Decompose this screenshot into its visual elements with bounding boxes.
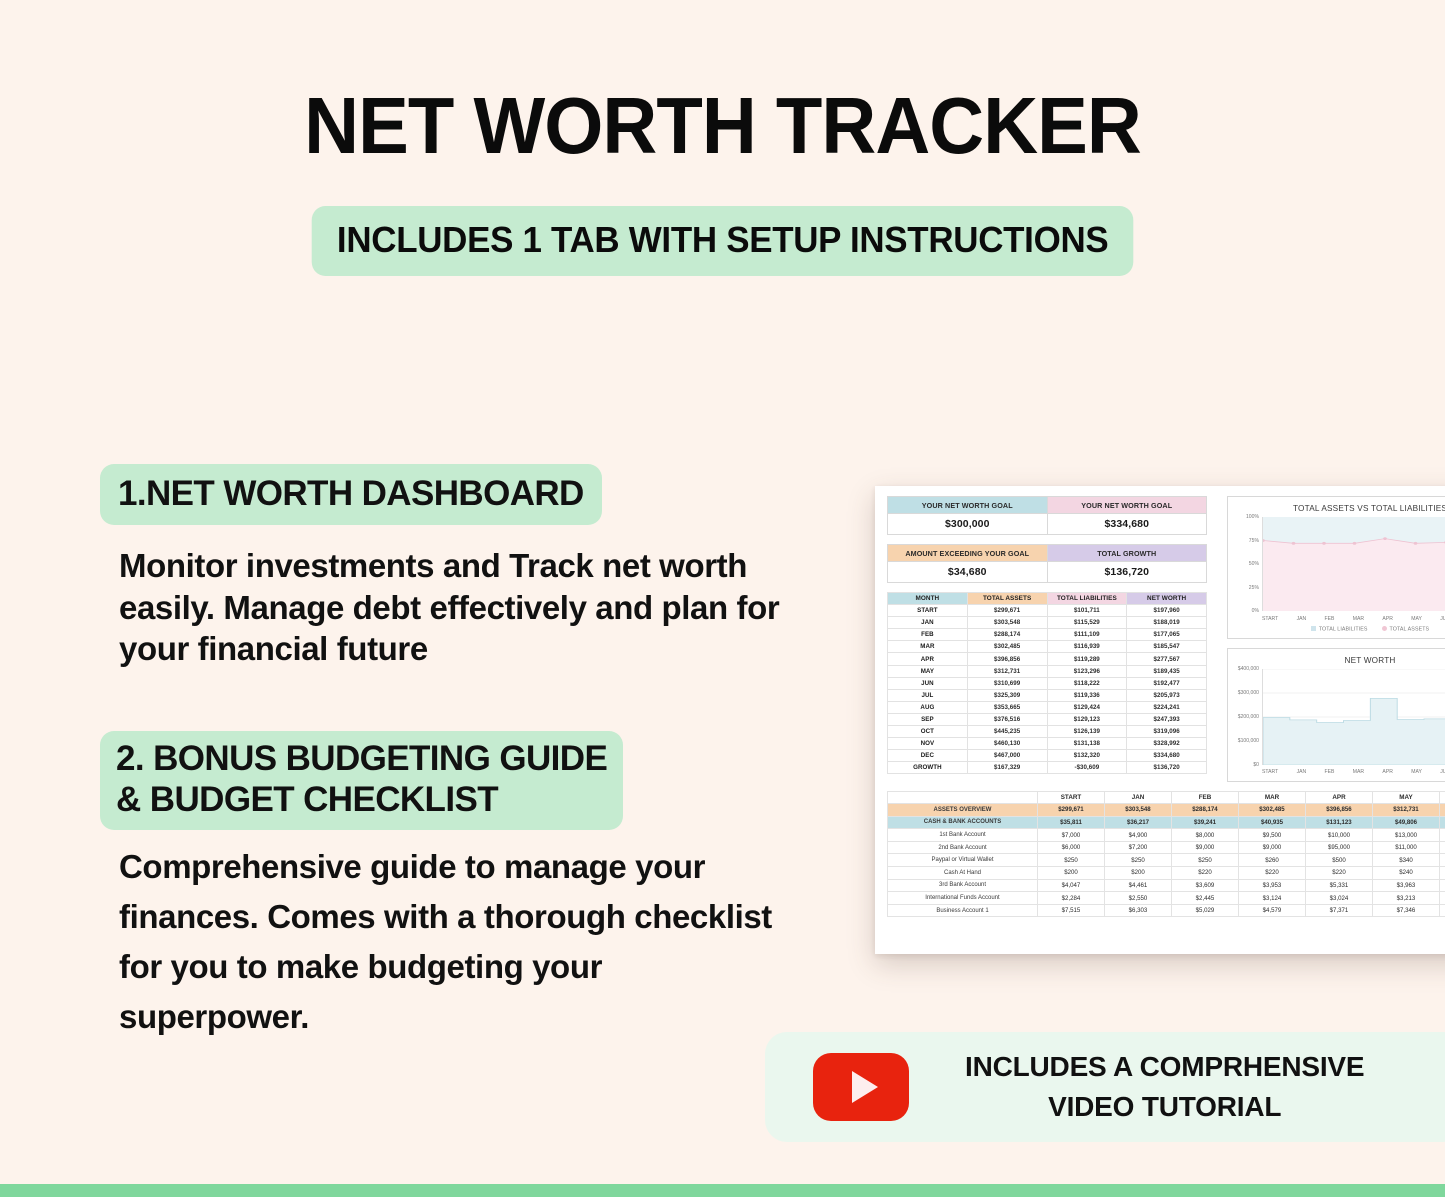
assets-cell: $5,331 xyxy=(1306,879,1373,892)
assets-header-5: APR xyxy=(1306,791,1373,804)
assets-cell: $7,200 xyxy=(1105,841,1172,854)
assets-cell: $3,592 xyxy=(1440,879,1445,892)
monthly-cell: JUN xyxy=(888,677,968,689)
chart-assets-vs-liabilities: TOTAL ASSETS VS TOTAL LIABILITIES 0%25%5… xyxy=(1227,496,1445,639)
x-tick: JUN xyxy=(1440,769,1445,775)
feature-net-worth-dashboard: 1.NET WORTH DASHBOARD Monitor investment… xyxy=(100,464,800,669)
monthly-cell: $302,485 xyxy=(967,641,1047,653)
assets-cell: $14,000 xyxy=(1440,829,1445,842)
monthly-cell: $111,109 xyxy=(1047,629,1127,641)
monthly-cell: GROWTH xyxy=(888,762,968,774)
monthly-cell: START xyxy=(888,605,968,617)
monthly-cell: $129,424 xyxy=(1047,701,1127,713)
chart-net-worth: NET WORTH $0$100,000$200,000$300,000$400… xyxy=(1227,648,1445,782)
spreadsheet-left-column: YOUR NET WORTH GOAL YOUR NET WORTH GOAL … xyxy=(887,496,1217,782)
assets-cell: $3,024 xyxy=(1306,892,1373,905)
assets-cell: $9,500 xyxy=(1239,829,1306,842)
kpi-value-3: $136,720 xyxy=(1047,562,1207,583)
kpi-value-row-2: $34,680 $136,720 xyxy=(888,562,1207,583)
legend-swatch-assets xyxy=(1382,626,1387,631)
monthly-cell: $460,130 xyxy=(967,738,1047,750)
y-tick: $0 xyxy=(1253,762,1259,768)
assets-cell: $13,000 xyxy=(1373,829,1440,842)
assets-cell: $3,963 xyxy=(1373,879,1440,892)
monthly-cell: $224,241 xyxy=(1127,701,1207,713)
chart-1-x-axis: STARTJANFEBMARAPRMAYJUNJULAUG xyxy=(1262,766,1445,779)
assets-cell: $7,346 xyxy=(1373,904,1440,917)
assets-cell: $312,731 xyxy=(1373,804,1440,817)
x-tick: JAN xyxy=(1297,769,1307,775)
assets-cell: $9,000 xyxy=(1239,841,1306,854)
video-banner-text: INCLUDES A COMPRHENSIVE VIDEO TUTORIAL xyxy=(965,1047,1364,1127)
x-tick: FEB xyxy=(1325,769,1335,775)
bottom-accent-bar xyxy=(0,1184,1445,1197)
monthly-cell: $325,309 xyxy=(967,689,1047,701)
assets-cell: $36,217 xyxy=(1105,816,1172,829)
monthly-cell: FEB xyxy=(888,629,968,641)
y-tick: $200,000 xyxy=(1238,714,1259,720)
table-row: Business Account 1$7,515$6,303$5,029$4,5… xyxy=(888,904,1445,917)
chart-0-y-axis: 0%25%50%75%100% xyxy=(1231,517,1261,611)
assets-cell: $500 xyxy=(1306,854,1373,867)
monthly-cell: $188,019 xyxy=(1127,617,1207,629)
monthly-cell: $119,289 xyxy=(1047,653,1127,665)
assets-cell: $200 xyxy=(1038,867,1105,880)
monthly-header-1: TOTAL ASSETS xyxy=(967,593,1047,605)
assets-cell: $4,461 xyxy=(1105,879,1172,892)
assets-cell: CASH & BANK ACCOUNTS xyxy=(888,816,1038,829)
assets-cell: $340 xyxy=(1373,854,1440,867)
assets-overview-table: STARTJANFEBMARAPRMAYJUNASSETS OVERVIEW$2… xyxy=(887,791,1445,918)
chart-0-title: TOTAL ASSETS VS TOTAL LIABILITIES xyxy=(1231,504,1445,513)
assets-cell: 2nd Bank Account xyxy=(888,841,1038,854)
assets-cell: $9,000 xyxy=(1172,841,1239,854)
assets-cell: $6,303 xyxy=(1105,904,1172,917)
table-row: 2nd Bank Account$6,000$7,200$9,000$9,000… xyxy=(888,841,1445,854)
feature-1-heading: 1.NET WORTH DASHBOARD xyxy=(100,464,602,525)
monthly-cell: APR xyxy=(888,653,968,665)
chart-1-svg xyxy=(1263,669,1445,765)
monthly-cell: $376,516 xyxy=(967,713,1047,725)
feature-1-body: Monitor investments and Track net worth … xyxy=(100,545,800,669)
assets-cell: $200 xyxy=(1105,867,1172,880)
monthly-cell: $319,096 xyxy=(1127,726,1207,738)
monthly-cell: $396,856 xyxy=(967,653,1047,665)
kpi-label-1: YOUR NET WORTH GOAL xyxy=(1047,497,1207,514)
assets-header-4: MAR xyxy=(1239,791,1306,804)
x-tick: APR xyxy=(1382,769,1392,775)
kpi-header-row-2: AMOUNT EXCEEDING YOUR GOAL TOTAL GROWTH xyxy=(888,545,1207,562)
table-header-row: MONTHTOTAL ASSETSTOTAL LIABILITIESNET WO… xyxy=(888,593,1207,605)
table-row: AUG$353,665$129,424$224,241 xyxy=(888,701,1207,713)
assets-cell: $220 xyxy=(1306,867,1373,880)
table-row: Paypal or Virtual Wallet$250$250$250$260… xyxy=(888,854,1445,867)
table-row: FEB$288,174$111,109$177,065 xyxy=(888,629,1207,641)
feature-2-body: Comprehensive guide to manage your finan… xyxy=(100,842,800,1043)
monthly-cell: $328,992 xyxy=(1127,738,1207,750)
kpi-header-row: YOUR NET WORTH GOAL YOUR NET WORTH GOAL xyxy=(888,497,1207,514)
monthly-cell: $118,222 xyxy=(1047,677,1127,689)
assets-cell: $40,935 xyxy=(1239,816,1306,829)
table-row: JAN$303,548$115,529$188,019 xyxy=(888,617,1207,629)
assets-header-7: JUN xyxy=(1440,791,1445,804)
table-row: Cash At Hand$200$200$220$220$220$240$260 xyxy=(888,867,1445,880)
spreadsheet-preview-card: YOUR NET WORTH GOAL YOUR NET WORTH GOAL … xyxy=(875,486,1445,954)
table-row: International Funds Account$2,284$2,550$… xyxy=(888,892,1445,905)
assets-cell: ASSETS OVERVIEW xyxy=(888,804,1038,817)
assets-header-2: JAN xyxy=(1105,791,1172,804)
assets-cell: $7,515 xyxy=(1038,904,1105,917)
monthly-cell: $192,477 xyxy=(1127,677,1207,689)
assets-cell: $3,609 xyxy=(1172,879,1239,892)
assets-cell: $53,882 xyxy=(1440,816,1445,829)
kpi-value-0: $300,000 xyxy=(888,514,1048,535)
assets-cell: $260 xyxy=(1239,854,1306,867)
subtitle-suffix: WITH SETUP INSTRUCTIONS xyxy=(619,219,1108,260)
monthly-cell: NOV xyxy=(888,738,968,750)
monthly-cell: MAR xyxy=(888,641,968,653)
assets-cell: $302,485 xyxy=(1239,804,1306,817)
assets-cell: $3,124 xyxy=(1239,892,1306,905)
y-tick: $400,000 xyxy=(1238,666,1259,672)
video-banner-line1: INCLUDES A COMPRHENSIVE xyxy=(965,1047,1364,1087)
assets-cell: $250 xyxy=(1172,854,1239,867)
table-row: GROWTH$167,329-$30,609$136,720 xyxy=(888,762,1207,774)
assets-cell: $310,699 xyxy=(1440,804,1445,817)
subtitle-badge: INCLUDES 1 TAB WITH SETUP INSTRUCTIONS xyxy=(312,206,1134,276)
assets-cell: $10,000 xyxy=(1306,829,1373,842)
chart-1-plot: $0$100,000$200,000$300,000$400,000 START… xyxy=(1231,669,1445,779)
monthly-cell: JAN xyxy=(888,617,968,629)
subtitle-row: INCLUDES 1 TAB WITH SETUP INSTRUCTIONS xyxy=(0,206,1445,276)
chart-1-plot-area xyxy=(1262,669,1445,765)
monthly-cell: $247,393 xyxy=(1127,713,1207,725)
assets-cell: $5,703 xyxy=(1440,904,1445,917)
assets-cell: Business Account 1 xyxy=(888,904,1038,917)
assets-cell: $131,123 xyxy=(1306,816,1373,829)
assets-cell: $2,284 xyxy=(1038,892,1105,905)
monthly-cell: $277,567 xyxy=(1127,653,1207,665)
assets-cell: $15,000 xyxy=(1440,841,1445,854)
table-row: MAR$302,485$116,939$185,547 xyxy=(888,641,1207,653)
assets-cell: Paypal or Virtual Wallet xyxy=(888,854,1038,867)
chart-0-legend-item-1: TOTAL ASSETS xyxy=(1382,626,1430,633)
assets-cell: $2,550 xyxy=(1105,892,1172,905)
table-row: APR$396,856$119,289$277,567 xyxy=(888,653,1207,665)
monthly-cell: $197,960 xyxy=(1127,605,1207,617)
table-row: ASSETS OVERVIEW$299,671$303,548$288,174$… xyxy=(888,804,1445,817)
table-row: MAY$312,731$123,296$189,435 xyxy=(888,665,1207,677)
table-row: DEC$467,000$132,320$334,680 xyxy=(888,750,1207,762)
monthly-cell: $101,711 xyxy=(1047,605,1127,617)
assets-cell: $396,856 xyxy=(1306,804,1373,817)
assets-cell: $2,445 xyxy=(1172,892,1239,905)
chart-0-legend: TOTAL LIABILITIES TOTAL ASSETS xyxy=(1231,626,1445,636)
assets-cell: $49,806 xyxy=(1373,816,1440,829)
table-row: JUL$325,309$119,336$205,973 xyxy=(888,689,1207,701)
spreadsheet-top-row: YOUR NET WORTH GOAL YOUR NET WORTH GOAL … xyxy=(887,496,1445,782)
monthly-cell: $177,065 xyxy=(1127,629,1207,641)
table-row: CASH & BANK ACCOUNTS$35,811$36,217$39,24… xyxy=(888,816,1445,829)
monthly-cell: $303,548 xyxy=(967,617,1047,629)
assets-cell: 3rd Bank Account xyxy=(888,879,1038,892)
chart-1-title: NET WORTH xyxy=(1231,656,1445,665)
y-tick: 0% xyxy=(1252,608,1259,614)
assets-header-0 xyxy=(888,791,1038,804)
monthly-cell: AUG xyxy=(888,701,968,713)
assets-cell: 1st Bank Account xyxy=(888,829,1038,842)
assets-cell: $95,000 xyxy=(1306,841,1373,854)
x-tick: MAY xyxy=(1411,616,1422,622)
table-row: SEP$376,516$129,123$247,393 xyxy=(888,713,1207,725)
monthly-cell: JUL xyxy=(888,689,968,701)
kpi-spacer xyxy=(887,535,1217,544)
play-triangle-icon xyxy=(852,1071,878,1103)
monthly-cell: $123,296 xyxy=(1047,665,1127,677)
monthly-cell: MAY xyxy=(888,665,968,677)
monthly-header-3: NET WORTH xyxy=(1127,593,1207,605)
kpi-value-row: $300,000 $334,680 xyxy=(888,514,1207,535)
monthly-cell: $334,680 xyxy=(1127,750,1207,762)
assets-cell: $6,000 xyxy=(1038,841,1105,854)
y-tick: 75% xyxy=(1249,538,1259,544)
kpi-table-2: AMOUNT EXCEEDING YOUR GOAL TOTAL GROWTH … xyxy=(887,544,1207,583)
feature-2-heading-line1: 2. BONUS BUDGETING GUIDE xyxy=(116,738,607,779)
chart-0-plot: 0%25%50%75%100% xyxy=(1231,517,1445,625)
assets-cell: $360 xyxy=(1440,854,1445,867)
features-column: 1.NET WORTH DASHBOARD Monitor investment… xyxy=(100,464,800,1060)
chart-0-legend-label-0: TOTAL LIABILITIES xyxy=(1319,627,1368,633)
legend-swatch-liabilities xyxy=(1311,626,1316,631)
assets-cell: $39,241 xyxy=(1172,816,1239,829)
y-tick: 25% xyxy=(1249,585,1259,591)
table-row: OCT$445,235$126,139$319,096 xyxy=(888,726,1207,738)
monthly-cell: $310,699 xyxy=(967,677,1047,689)
assets-header-3: FEB xyxy=(1172,791,1239,804)
chart-0-x-axis: STARTJANFEBMARAPRMAYJUNJULAUG xyxy=(1262,612,1445,625)
y-tick: 50% xyxy=(1249,561,1259,567)
monthly-cell: $467,000 xyxy=(967,750,1047,762)
monthly-cell: $126,139 xyxy=(1047,726,1127,738)
video-banner-line2: VIDEO TUTORIAL xyxy=(965,1087,1364,1127)
x-tick: START xyxy=(1262,616,1278,622)
monthly-summary-table: MONTHTOTAL ASSETSTOTAL LIABILITIESNET WO… xyxy=(887,592,1207,774)
kpi-value-1: $334,680 xyxy=(1047,514,1207,535)
chart-1-y-axis: $0$100,000$200,000$300,000$400,000 xyxy=(1231,669,1261,765)
assets-cell: $3,213 xyxy=(1373,892,1440,905)
x-tick: MAR xyxy=(1353,616,1364,622)
assets-cell: $7,371 xyxy=(1306,904,1373,917)
monthly-cell: $312,731 xyxy=(967,665,1047,677)
x-tick: APR xyxy=(1382,616,1392,622)
monthly-cell: $185,547 xyxy=(1127,641,1207,653)
assets-cell: $240 xyxy=(1373,867,1440,880)
monthly-cell: SEP xyxy=(888,713,968,725)
assets-cell: $220 xyxy=(1239,867,1306,880)
monthly-header-0: MONTH xyxy=(888,593,968,605)
monthly-header-2: TOTAL LIABILITIES xyxy=(1047,593,1127,605)
page-title: NET WORTH TRACKER xyxy=(36,86,1409,166)
monthly-cell: $189,435 xyxy=(1127,665,1207,677)
monthly-cell: $132,320 xyxy=(1047,750,1127,762)
monthly-cell: DEC xyxy=(888,750,968,762)
assets-cell: $4,900 xyxy=(1105,829,1172,842)
kpi-table: YOUR NET WORTH GOAL YOUR NET WORTH GOAL … xyxy=(887,496,1207,535)
monthly-cell: $136,720 xyxy=(1127,762,1207,774)
assets-cell: $4,579 xyxy=(1239,904,1306,917)
kpi-label-0: YOUR NET WORTH GOAL xyxy=(888,497,1048,514)
assets-cell: $7,000 xyxy=(1038,829,1105,842)
assets-cell: $35,811 xyxy=(1038,816,1105,829)
monthly-cell: $353,665 xyxy=(967,701,1047,713)
monthly-cell: $299,671 xyxy=(967,605,1047,617)
monthly-cell: $288,174 xyxy=(967,629,1047,641)
assets-cell: $299,671 xyxy=(1038,804,1105,817)
assets-cell: $260 xyxy=(1440,867,1445,880)
monthly-cell: $129,123 xyxy=(1047,713,1127,725)
x-tick: JUN xyxy=(1440,616,1445,622)
subtitle-prefix: INCLUDES 1 xyxy=(337,219,551,260)
assets-cell: Cash At Hand xyxy=(888,867,1038,880)
chart-0-legend-label-1: TOTAL ASSETS xyxy=(1390,627,1430,633)
monthly-cell: $131,138 xyxy=(1047,738,1127,750)
monthly-cell: $205,973 xyxy=(1127,689,1207,701)
x-tick: MAY xyxy=(1411,769,1422,775)
table-row: JUN$310,699$118,222$192,477 xyxy=(888,677,1207,689)
feature-bonus-budgeting-guide: 2. BONUS BUDGETING GUIDE & BUDGET CHECKL… xyxy=(100,731,800,1042)
x-tick: MAR xyxy=(1353,769,1364,775)
x-tick: FEB xyxy=(1325,616,1335,622)
y-tick: 100% xyxy=(1246,514,1259,520)
assets-header-6: MAY xyxy=(1373,791,1440,804)
monthly-cell: $116,939 xyxy=(1047,641,1127,653)
table-row: 1st Bank Account$7,000$4,900$8,000$9,500… xyxy=(888,829,1445,842)
assets-cell: $8,000 xyxy=(1172,829,1239,842)
assets-cell: $4,047 xyxy=(1038,879,1105,892)
assets-cell: $5,029 xyxy=(1172,904,1239,917)
monthly-cell: $115,529 xyxy=(1047,617,1127,629)
monthly-cell: -$30,609 xyxy=(1047,762,1127,774)
feature-2-heading: 2. BONUS BUDGETING GUIDE & BUDGET CHECKL… xyxy=(100,731,623,830)
assets-cell: $11,000 xyxy=(1373,841,1440,854)
kpi-label-3: TOTAL GROWTH xyxy=(1047,545,1207,562)
assets-header-1: START xyxy=(1038,791,1105,804)
chart-0-legend-item-0: TOTAL LIABILITIES xyxy=(1311,626,1368,633)
assets-cell: $250 xyxy=(1038,854,1105,867)
assets-cell: $250 xyxy=(1105,854,1172,867)
assets-cell: $3,953 xyxy=(1239,879,1306,892)
assets-cell: $288,174 xyxy=(1172,804,1239,817)
y-tick: $300,000 xyxy=(1238,690,1259,696)
table-row: NOV$460,130$131,138$328,992 xyxy=(888,738,1207,750)
y-tick: $100,000 xyxy=(1238,738,1259,744)
video-tutorial-banner[interactable]: INCLUDES A COMPRHENSIVE VIDEO TUTORIAL xyxy=(765,1032,1445,1142)
x-tick: JAN xyxy=(1297,616,1307,622)
table-header-row: STARTJANFEBMARAPRMAYJUN xyxy=(888,791,1445,804)
monthly-cell: $445,235 xyxy=(967,726,1047,738)
assets-cell: $303,548 xyxy=(1105,804,1172,817)
monthly-cell: $167,329 xyxy=(967,762,1047,774)
assets-cell: $220 xyxy=(1172,867,1239,880)
kpi-value-2: $34,680 xyxy=(888,562,1048,583)
table-row: START$299,671$101,711$197,960 xyxy=(888,605,1207,617)
table-row: 3rd Bank Account$4,047$4,461$3,609$3,953… xyxy=(888,879,1445,892)
chart-0-svg xyxy=(1263,517,1445,611)
feature-2-heading-line2: & BUDGET CHECKLIST xyxy=(116,779,607,820)
assets-cell: International Funds Account xyxy=(888,892,1038,905)
subtitle-bold: TAB xyxy=(551,219,619,260)
x-tick: START xyxy=(1262,769,1278,775)
monthly-cell: $119,336 xyxy=(1047,689,1127,701)
monthly-cell: OCT xyxy=(888,726,968,738)
chart-0-plot-area xyxy=(1262,517,1445,611)
kpi-label-2: AMOUNT EXCEEDING YOUR GOAL xyxy=(888,545,1048,562)
spreadsheet-charts-column: TOTAL ASSETS VS TOTAL LIABILITIES 0%25%5… xyxy=(1227,496,1445,782)
assets-cell: $3,254 xyxy=(1440,892,1445,905)
